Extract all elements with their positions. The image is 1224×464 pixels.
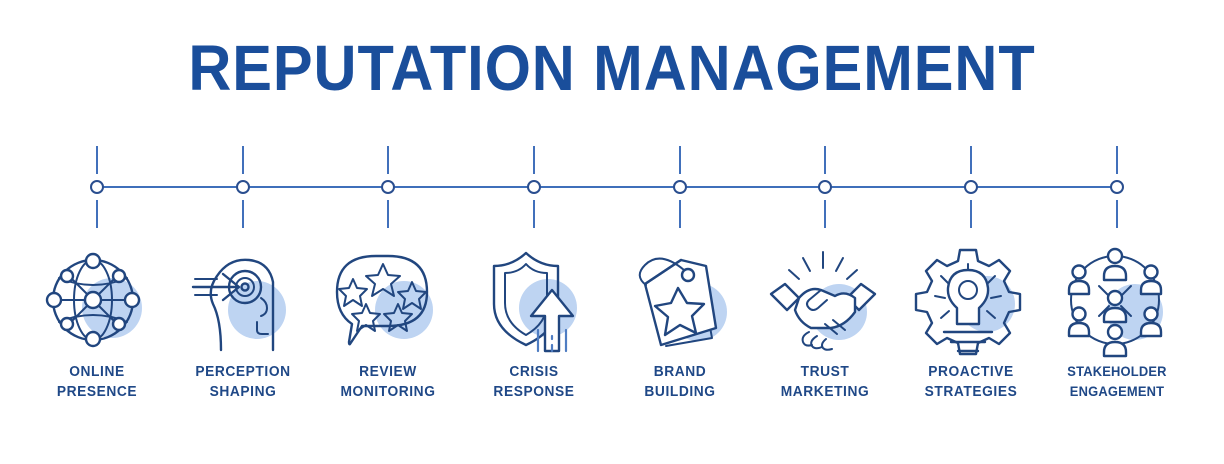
timeline-tick-up — [96, 146, 98, 174]
shield-up-arrow-icon — [474, 246, 594, 354]
item-label: TRUST MARKETING — [756, 362, 895, 402]
item-stakeholder-engagement[interactable]: STAKEHOLDER ENGAGEMENT — [1044, 246, 1190, 402]
people-network-icon — [1057, 246, 1177, 354]
item-label: REVIEW MONITORING — [319, 362, 458, 402]
item-label: STAKEHOLDER ENGAGEMENT — [1048, 362, 1187, 402]
item-crisis-response[interactable]: CRISIS RESPONSE — [461, 246, 607, 402]
item-proactive-strategies[interactable]: PROACTIVE STRATEGIES — [898, 246, 1044, 402]
speech-bubble-stars-icon — [328, 246, 448, 354]
item-trust-marketing[interactable]: TRUST MARKETING — [752, 246, 898, 402]
infographic-canvas: REPUTATION MANAGEMENT — [0, 0, 1224, 464]
item-label: ONLINE PRESENCE — [28, 362, 167, 402]
page-title: REPUTATION MANAGEMENT — [43, 36, 1181, 100]
item-perception-shaping[interactable]: PERCEPTION SHAPING — [170, 246, 316, 402]
timeline-tick-up — [970, 146, 972, 174]
timeline-tick-down — [1116, 200, 1118, 228]
item-label: BRAND BUILDING — [611, 362, 750, 402]
timeline-tick-up — [1116, 146, 1118, 174]
timeline-tick-down — [970, 200, 972, 228]
timeline-node[interactable] — [964, 180, 978, 194]
timeline-node[interactable] — [236, 180, 250, 194]
timeline-tick-down — [387, 200, 389, 228]
timeline-tick-down — [242, 200, 244, 228]
item-review-monitoring[interactable]: REVIEW MONITORING — [315, 246, 461, 402]
item-online-presence[interactable]: ONLINE PRESENCE — [24, 246, 170, 402]
item-label: PROACTIVE STRATEGIES — [902, 362, 1041, 402]
item-label: PERCEPTION SHAPING — [174, 362, 313, 402]
timeline-tick-up — [824, 146, 826, 174]
timeline-tick-down — [96, 200, 98, 228]
timeline-node[interactable] — [818, 180, 832, 194]
timeline-tick-down — [679, 200, 681, 228]
timeline-tick-up — [242, 146, 244, 174]
timeline-tick-down — [824, 200, 826, 228]
item-label: CRISIS RESPONSE — [465, 362, 604, 402]
timeline-tick-up — [387, 146, 389, 174]
gear-lightbulb-icon — [911, 246, 1031, 354]
timeline-node[interactable] — [1110, 180, 1124, 194]
handshake-icon — [765, 246, 885, 354]
timeline-node[interactable] — [527, 180, 541, 194]
timeline-tick-up — [533, 146, 535, 174]
timeline-tick-down — [533, 200, 535, 228]
timeline — [0, 140, 1224, 240]
timeline-node[interactable] — [90, 180, 104, 194]
timeline-tick-up — [679, 146, 681, 174]
globe-network-icon — [37, 246, 157, 354]
timeline-node[interactable] — [673, 180, 687, 194]
item-brand-building[interactable]: BRAND BUILDING — [607, 246, 753, 402]
timeline-node[interactable] — [381, 180, 395, 194]
price-tags-star-icon — [620, 246, 740, 354]
head-profile-target-arrow-icon — [183, 246, 303, 354]
